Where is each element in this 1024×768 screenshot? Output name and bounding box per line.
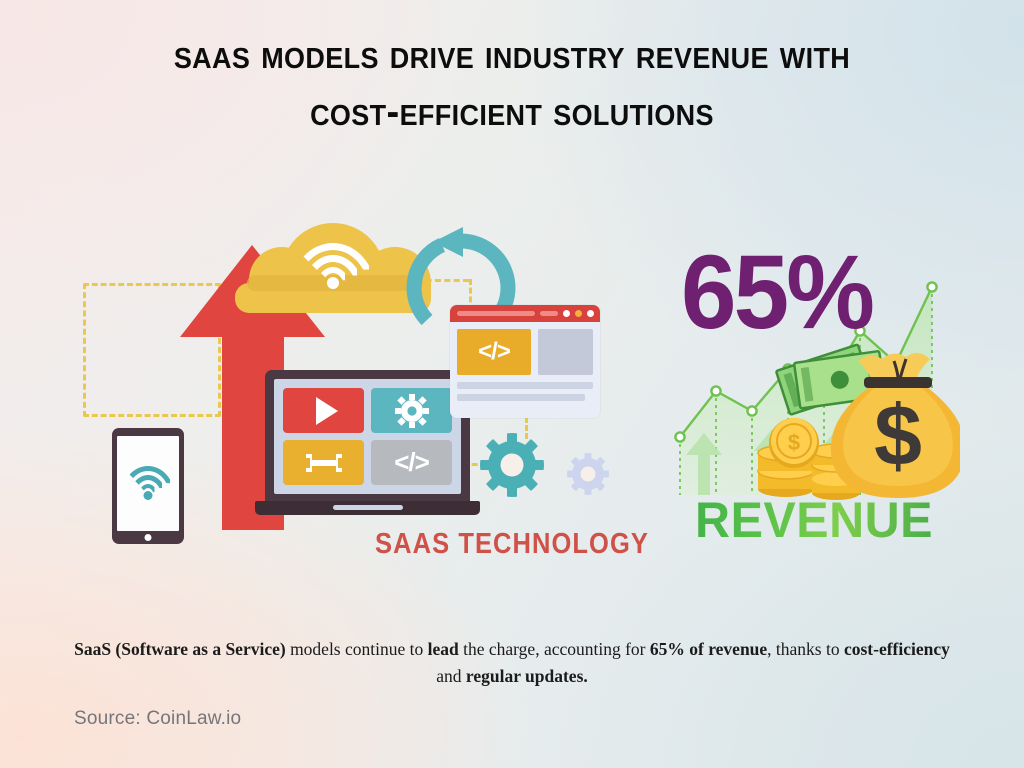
svg-text:$: $: [788, 430, 800, 455]
settings-tile: [371, 388, 452, 433]
cloud-wifi-signal-icon: [296, 243, 370, 291]
caption-text-2: models continue to: [286, 639, 428, 659]
caption-text-4: the charge, accounting for: [459, 639, 650, 659]
percent-figure: 65%: [681, 240, 872, 345]
caption-bold-7: cost-efficiency: [844, 639, 950, 659]
browser-dot-2: [575, 310, 582, 317]
code-glyph: </>: [394, 447, 429, 478]
browser-dot-1: [563, 310, 570, 317]
browser-titlebar: [450, 305, 600, 322]
caption-bold-9: regular updates.: [466, 666, 588, 686]
browser-tab-strip: [457, 311, 535, 316]
saas-technology-illustration: </> </>: [75, 225, 635, 565]
title-line-1: SaaS Models Drive Industry Revenue with: [92, 26, 933, 83]
video-tile: [283, 388, 364, 433]
caption-text-6: , thanks to: [767, 639, 844, 659]
tools-tile: [283, 440, 364, 485]
gear-icon: [395, 394, 429, 428]
browser-code-panel: </>: [457, 329, 531, 375]
infographic-canvas: SaaS Models Drive Industry Revenue with …: [0, 0, 1024, 768]
browser-window-icon: </>: [450, 305, 600, 418]
browser-tab-strip-2: [540, 311, 558, 316]
dollar-sign: $: [874, 388, 922, 484]
tablet-wifi-icon: [112, 428, 184, 544]
code-tile: </>: [371, 440, 452, 485]
laptop-screen: </>: [274, 379, 461, 494]
wrench-icon: [302, 452, 346, 474]
caption-bold-5: 65% of revenue: [650, 639, 767, 659]
title-line-2: Cost-Efficient Solutions: [92, 83, 933, 140]
browser-code-glyph: </>: [478, 338, 510, 366]
browser-text-line: [457, 382, 593, 389]
revenue-illustration: $ $ 65% REVENUE: [668, 243, 960, 543]
source-attribution: Source: CoinLaw.io: [74, 708, 241, 730]
browser-text-lines: [457, 382, 593, 401]
gear-icon: [480, 433, 544, 497]
browser-top-row: </>: [457, 329, 593, 375]
browser-content: </>: [450, 322, 600, 413]
browser-text-line: [457, 394, 585, 401]
page-title: SaaS Models Drive Industry Revenue with …: [0, 26, 1024, 139]
laptop-lid: </>: [265, 370, 470, 503]
laptop-trackpad-notch: [333, 505, 403, 510]
wifi-icon: [125, 466, 171, 500]
caption-text-8: and: [436, 666, 466, 686]
browser-dot-3: [587, 310, 594, 317]
caption-bold-1: SaaS (Software as a Service): [74, 639, 286, 659]
tablet-screen: [117, 436, 179, 531]
revenue-word: REVENUE: [672, 491, 955, 549]
gear-icon: [567, 453, 609, 495]
caption-bold-3: lead: [428, 639, 459, 659]
browser-image-panel: [538, 329, 593, 375]
play-icon: [316, 397, 338, 425]
caption-text: SaaS (Software as a Service) models cont…: [72, 636, 952, 689]
laptop-icon: </>: [255, 370, 480, 530]
